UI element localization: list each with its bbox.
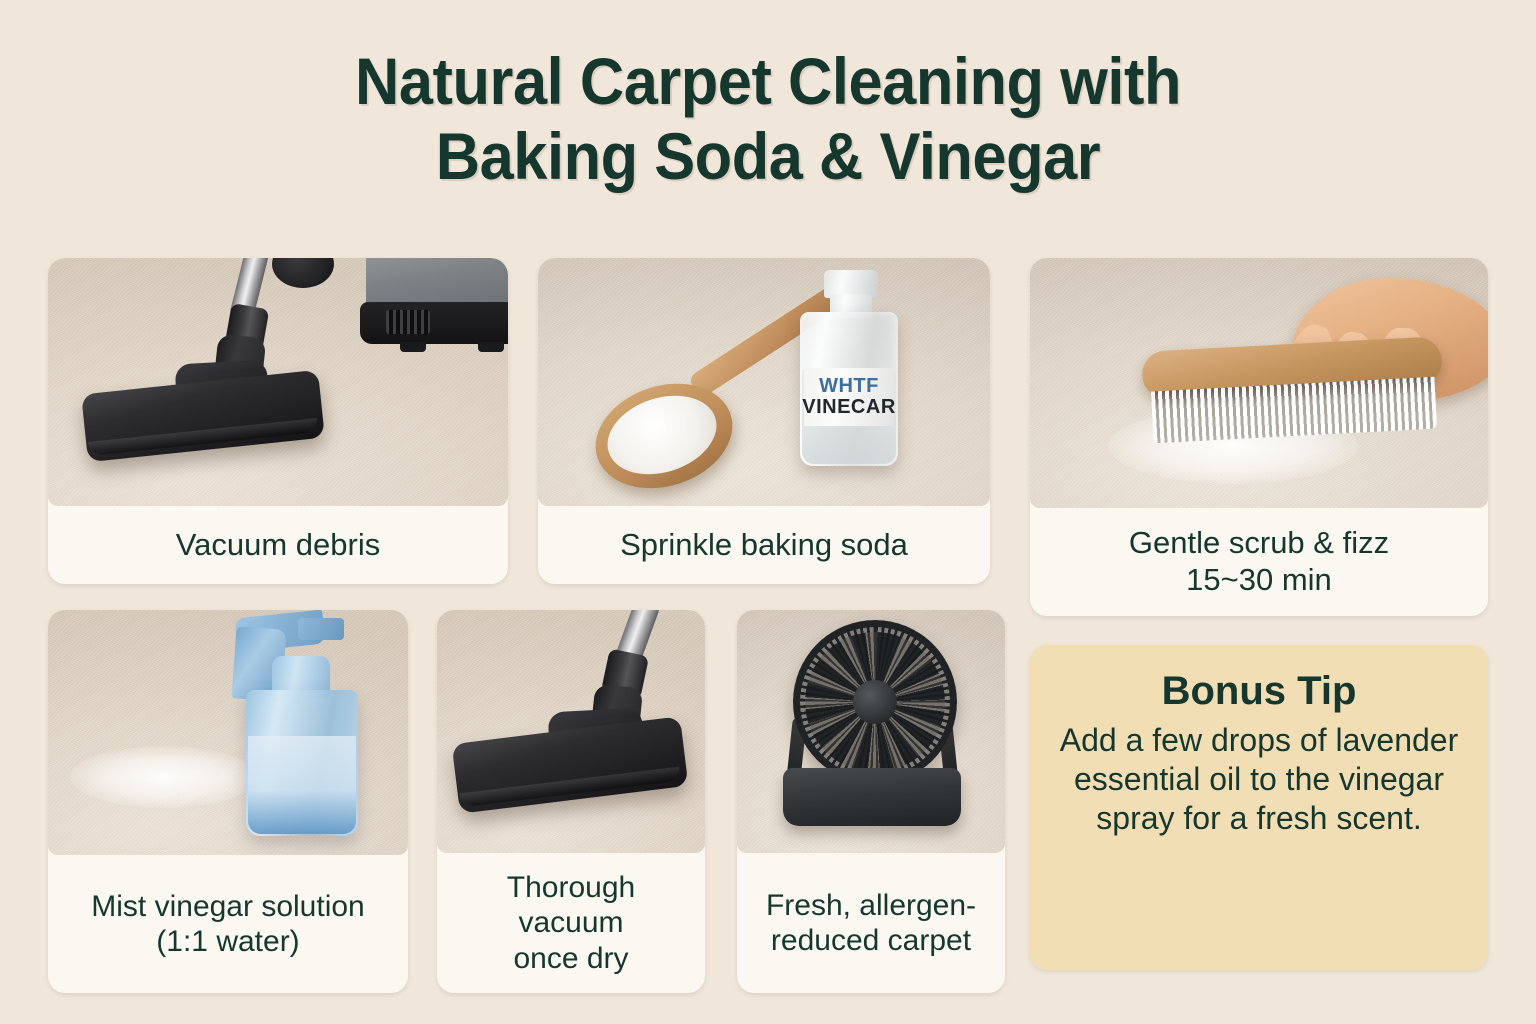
step-card-4[interactable]: Mist vinegar solution (1:1 water) <box>48 610 408 993</box>
page-title-line-2: Baking Soda & Vinegar <box>54 119 1482 194</box>
step-4-photo <box>48 610 408 855</box>
vacuum-illustration <box>48 258 508 506</box>
vacuum-illustration <box>437 610 705 853</box>
page-title-line-1: Natural Carpet Cleaning with <box>355 44 1181 118</box>
step-card-5[interactable]: Thorough vacuum once dry <box>437 610 705 993</box>
step-5-photo <box>437 610 705 853</box>
bonus-tip-body: Add a few drops of lavender essential oi… <box>1048 721 1470 838</box>
step-card-2[interactable]: WHTF VINECAR Sprinkle baking soda <box>538 258 990 584</box>
step-5-caption: Thorough vacuum once dry <box>437 853 705 993</box>
step-3-photo <box>1030 258 1488 508</box>
step-1-photo <box>48 258 508 506</box>
step-2-caption: Sprinkle baking soda <box>538 506 990 584</box>
bonus-tip-title: Bonus Tip <box>1162 671 1357 711</box>
bonus-tip-card: Bonus Tip Add a few drops of lavender es… <box>1030 645 1488 970</box>
step-4-caption: Mist vinegar solution (1:1 water) <box>48 855 408 993</box>
step-2-photo: WHTF VINECAR <box>538 258 990 506</box>
step-1-caption: Vacuum debris <box>48 506 508 584</box>
step-6-photo <box>737 610 1005 853</box>
step-6-caption: Fresh, allergen- reduced carpet <box>737 853 1005 993</box>
step-card-3[interactable]: Gentle scrub & fizz 15~30 min <box>1030 258 1488 616</box>
step-3-caption: Gentle scrub & fizz 15~30 min <box>1030 508 1488 616</box>
infographic-page: Natural Carpet Cleaning with Baking Soda… <box>0 0 1536 1024</box>
step-card-6[interactable]: Fresh, allergen- reduced carpet <box>737 610 1005 993</box>
bottle-label-line-2: VINECAR <box>802 397 896 418</box>
bottle-label-line-1: WHTF <box>819 376 879 397</box>
step-card-1[interactable]: Vacuum debris <box>48 258 508 584</box>
page-title: Natural Carpet Cleaning with Baking Soda… <box>54 44 1482 194</box>
